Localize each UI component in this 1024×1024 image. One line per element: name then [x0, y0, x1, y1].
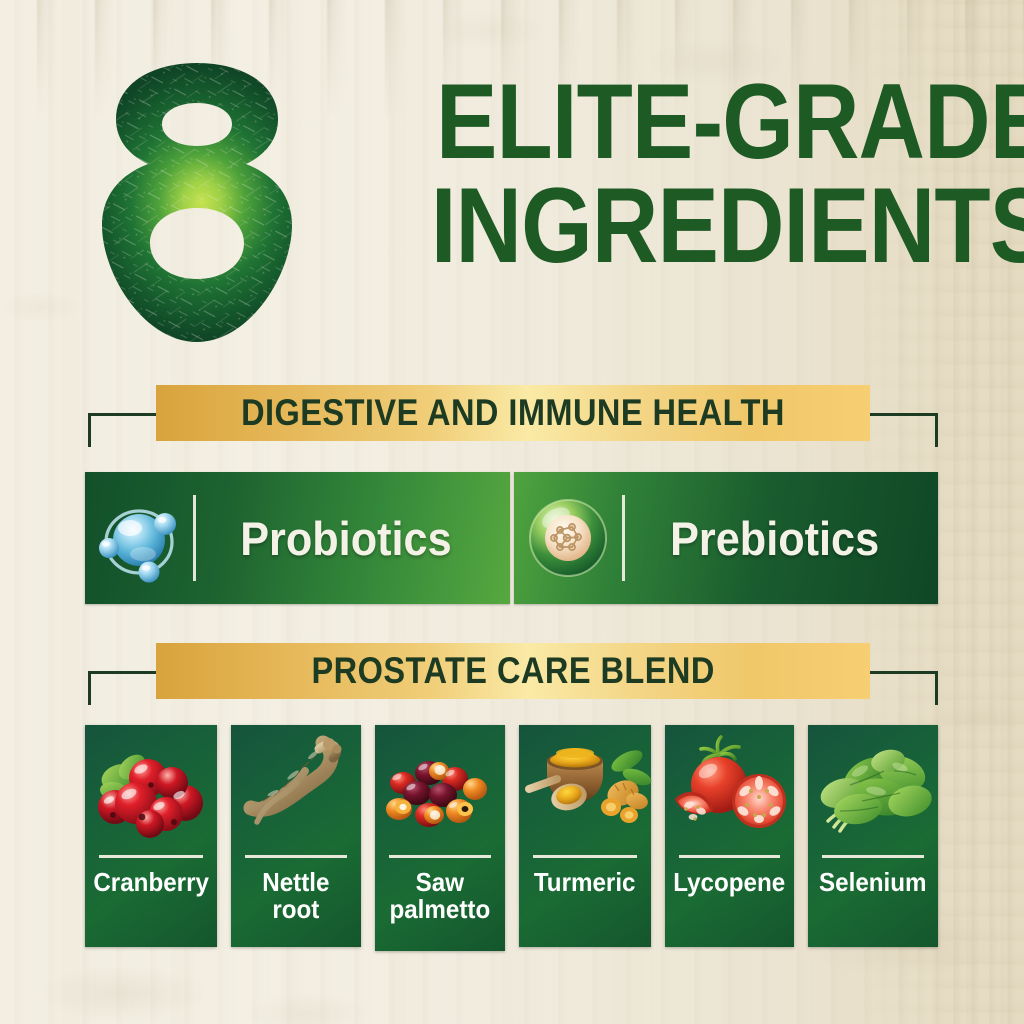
panel-label-prebiotics: Prebiotics	[625, 511, 939, 566]
saw-palmetto-berries-image	[375, 725, 505, 855]
blue-probiotic-sphere-icon	[85, 472, 193, 604]
ingredient-panel-prebiotics[interactable]: Prebiotics	[514, 472, 939, 604]
card-divider	[389, 855, 491, 858]
big-number-eight	[72, 60, 322, 345]
card-label-saw-palmetto: Saw palmetto	[375, 858, 505, 951]
card-label-selenium: Selenium	[808, 858, 938, 947]
card-label-nettle-root: Nettle root	[231, 858, 361, 947]
card-divider	[679, 855, 781, 858]
ingredient-card-selenium[interactable]: Selenium	[808, 725, 938, 947]
turmeric-bowl-image	[519, 725, 651, 855]
card-label-cranberry: Cranberry	[85, 858, 217, 947]
banner-bar: PROSTATE CARE BLEND	[156, 643, 870, 699]
ingredients-infographic: ELITE-GRADE INGREDIENTS DIGESTIVE AND IM…	[0, 0, 1024, 1024]
panel-divider	[193, 495, 196, 581]
ingredient-card-nettle-root[interactable]: Nettle root	[231, 725, 361, 947]
ingredient-card-cranberry[interactable]: Cranberry	[85, 725, 217, 947]
banner-bar: DIGESTIVE AND IMMUNE HEALTH	[156, 385, 870, 441]
card-divider	[99, 855, 203, 858]
biotic-panels-row: Probiotics	[85, 472, 938, 604]
card-label-lycopene: Lycopene	[665, 858, 795, 947]
ingredient-panel-probiotics[interactable]: Probiotics	[85, 472, 510, 604]
section-banner-prostate: PROSTATE CARE BLEND	[88, 643, 938, 699]
ingredient-cards-row: Cranberry	[85, 725, 938, 947]
headline-line-1: ELITE-GRADE	[431, 70, 1024, 174]
card-divider	[245, 855, 347, 858]
section-banner-digestive: DIGESTIVE AND IMMUNE HEALTH	[88, 385, 938, 441]
cranberries-image	[85, 725, 217, 855]
ingredient-card-saw-palmetto[interactable]: Saw palmetto	[375, 725, 505, 951]
card-divider	[533, 855, 637, 858]
spinach-leaves-image	[808, 725, 938, 855]
panel-label-probiotics: Probiotics	[196, 511, 510, 566]
nettle-root-image	[231, 725, 361, 855]
headline-block: ELITE-GRADE INGREDIENTS	[72, 56, 960, 345]
card-divider	[822, 855, 924, 858]
tomatoes-image	[665, 725, 795, 855]
green-prebiotic-capsule-icon	[514, 472, 622, 604]
banner-title: PROSTATE CARE BLEND	[156, 650, 870, 692]
ingredient-card-lycopene[interactable]: Lycopene	[665, 725, 795, 947]
headline-text: ELITE-GRADE INGREDIENTS	[322, 56, 1024, 278]
ingredient-card-turmeric[interactable]: Turmeric	[519, 725, 651, 947]
panel-divider	[622, 495, 625, 581]
banner-title: DIGESTIVE AND IMMUNE HEALTH	[156, 392, 870, 434]
card-label-turmeric: Turmeric	[519, 858, 651, 947]
headline-line-2: INGREDIENTS	[431, 174, 1024, 278]
